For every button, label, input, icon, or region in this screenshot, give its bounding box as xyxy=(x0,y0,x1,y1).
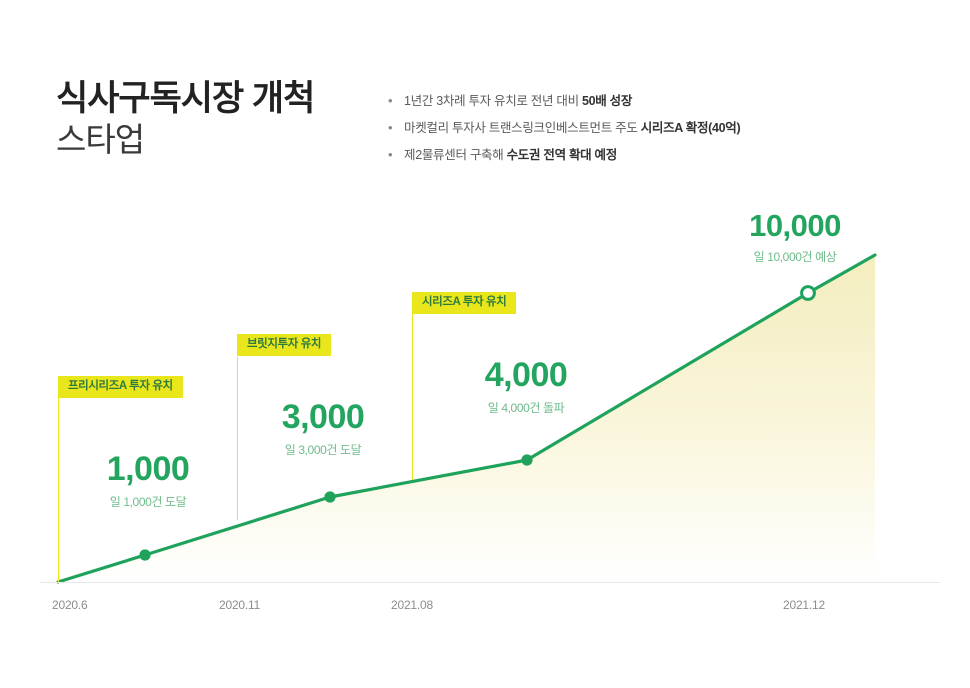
milestone-caption-3: 일 4,000건 돌파 xyxy=(446,399,606,416)
milestone-connector-line-1 xyxy=(58,396,59,582)
x-axis-tick-label-3: 2021.08 xyxy=(391,598,433,612)
milestone-value-group-1: 1,000 일 1,000건 도달 xyxy=(68,452,228,510)
chart-plot-area xyxy=(0,0,970,688)
milestone-badge-3: 시리즈A 투자 유치 xyxy=(412,292,516,314)
slide-canvas: 식사구독시장 개척 스타업 • 1년간 3차례 투자 유치로 전년 대비 50배… xyxy=(0,0,970,688)
growth-line-chart: 프리시리즈A 투자 유치 1,000 일 1,000건 도달 브릿지투자 유치 … xyxy=(0,0,970,688)
x-axis-tick-label-1: 2020.6 xyxy=(52,598,88,612)
milestone-connector-line-3 xyxy=(412,313,413,480)
milestone-badge-1: 프리시리즈A 투자 유치 xyxy=(58,376,183,398)
milestone-value-4: 10,000 xyxy=(710,210,880,243)
chart-baseline-axis xyxy=(40,582,940,583)
milestone-value-group-2: 3,000 일 3,000건 도달 xyxy=(243,400,403,458)
milestone-value-group-4: 10,000 일 10,000건 예상 xyxy=(710,210,880,265)
x-axis-tick-label-4: 2021.12 xyxy=(783,598,825,612)
milestone-value-2: 3,000 xyxy=(243,400,403,436)
milestone-value-3: 4,000 xyxy=(446,358,606,394)
milestone-badge-2: 브릿지투자 유치 xyxy=(237,334,331,356)
chart-point-marker[interactable] xyxy=(324,491,335,502)
milestone-caption-2: 일 3,000건 도달 xyxy=(243,441,403,458)
milestone-caption-4: 일 10,000건 예상 xyxy=(710,248,880,265)
x-axis-tick-label-2: 2020.11 xyxy=(219,598,260,612)
chart-point-marker[interactable] xyxy=(139,549,150,560)
milestone-value-1: 1,000 xyxy=(68,452,228,488)
milestone-value-group-3: 4,000 일 4,000건 돌파 xyxy=(446,358,606,416)
milestone-caption-1: 일 1,000건 도달 xyxy=(68,493,228,510)
milestone-connector-line-2 xyxy=(237,357,238,520)
chart-point-marker[interactable] xyxy=(521,454,532,465)
chart-point-marker-forecast[interactable] xyxy=(802,287,815,300)
